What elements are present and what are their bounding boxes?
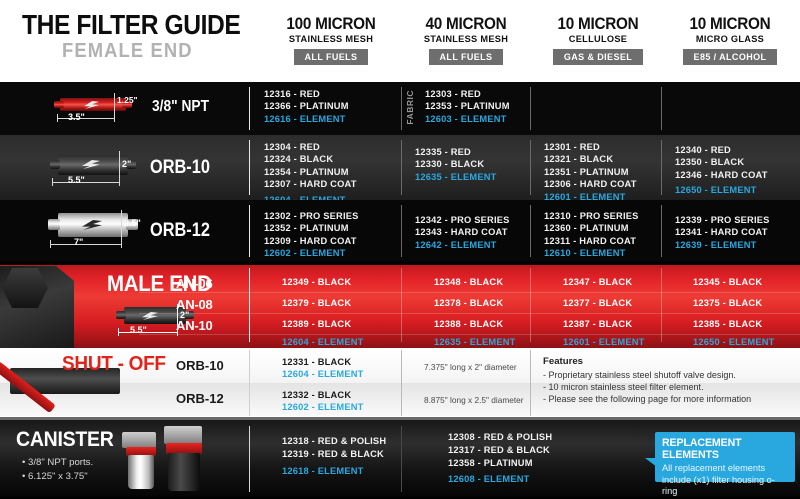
column-divider [530,268,531,342]
part-number: 12309 - HARD COAT [264,235,401,247]
dimension-line [119,151,120,181]
column-fuel-badge: GAS & DIESEL [553,49,643,65]
column-fuel-badge: ALL FUELS [429,49,504,65]
dimension-tick [118,328,119,336]
female-end-table: 3.5" 1.25" 3/8" NPT 12316 - RED 12366 - … [0,82,800,497]
part-number: 12348 - BLACK [434,277,503,287]
replacement-elements-callout: REPLACEMENT ELEMENTS All replacement ele… [655,432,795,482]
data-cell-40-micron: FABRIC 12303 - RED 12353 - PLATINUM 1260… [401,82,530,135]
shutoff-size-label: ORB-10 [176,358,224,373]
column-divider [401,87,402,130]
column-divider [661,140,662,195]
part-number: 12387 - BLACK [563,319,632,329]
callout-line-2: include (x1) filter housing o-ring [662,475,788,498]
part-number-element: 12602 - ELEMENT [282,401,364,413]
part-number-element: 12603 - ELEMENT [425,113,530,125]
shutoff-size-label: ORB-12 [176,391,224,406]
part-number: 12377 - BLACK [563,298,632,308]
callout-line-1: All replacement elements [662,463,788,475]
filter-end-graphic [54,101,64,108]
part-number: 12385 - BLACK [693,319,762,329]
data-cell-100-micron: 12304 - RED 12324 - BLACK 12354 - PLATIN… [250,135,401,200]
dimension-length-label: 5.5" [68,175,85,185]
column-divider [661,205,662,257]
dimension-line [52,182,120,183]
page-header: THE FILTER GUIDE FEMALE END 100 MICRON S… [0,0,800,82]
part-number: 12308 - RED & POLISH [448,432,552,442]
feature-item: - Proprietary stainless steel shutoff va… [543,370,736,380]
dimension-line [50,244,122,245]
data-cell-10-micron-cellulose [530,82,661,135]
part-number: 12389 - BLACK [282,319,351,329]
part-number: 12307 - HARD COAT [264,178,401,190]
part-number: 12321 - BLACK [544,153,661,165]
part-number-element: 12610 - ELEMENT [544,247,661,259]
part-number: 12346 - HARD COAT [675,169,800,181]
row-divider [139,313,800,314]
dimension-line [57,118,115,119]
an-size-label: AN-10 [176,318,213,333]
an-size-label: AN-06 [176,276,213,291]
column-micron: 100 MICRON [265,14,396,33]
part-number: 12352 - PLATINUM [264,222,401,234]
part-number: 12341 - HARD COAT [675,226,800,238]
part-number: 12358 - PLATINUM [448,458,533,468]
column-micron: 10 MICRON [535,14,661,33]
column-divider [249,426,250,492]
part-number: 12375 - BLACK [693,298,762,308]
column-divider [401,426,402,492]
canister-section: CANISTER • 3/8" NPT ports. • 6.125" x 3.… [0,420,800,497]
column-fuel-badge: E85 / ALCOHOL [683,49,778,65]
data-cell-10-micron-microglass: 12340 - RED 12350 - BLACK 12346 - HARD C… [661,135,800,200]
product-name: 3/8" NPT [152,98,209,116]
column-divider [661,268,662,342]
product-name: ORB-12 [150,220,210,242]
part-number: 12379 - BLACK [282,298,351,308]
column-header-4: 10 MICRON MICRO GLASS E85 / ALCOHOL [660,14,800,65]
part-number: 12301 - RED [544,141,661,153]
part-number-element: 12650 - ELEMENT [693,337,775,347]
part-number: 12331 - BLACK [282,356,351,368]
section-title: SHUT - OFF [62,353,166,376]
column-header-3: 10 MICRON CELLULOSE GAS & DIESEL [528,14,668,65]
part-number-element: 12601 - ELEMENT [563,337,645,347]
features-title: Features [543,356,583,367]
part-number: 12311 - HARD COAT [544,235,661,247]
page-subtitle: FEMALE END [62,40,193,63]
part-number: 12330 - BLACK [415,158,530,170]
part-number: 12319 - RED & BLACK [282,449,384,459]
table-row-orb12: 7" 2.5" ORB-12 12302 - PRO SERIES 12352 … [0,200,800,262]
canister-jar-graphic [128,455,154,489]
column-micron: 10 MICRON [667,14,793,33]
data-cell-100-micron: 12316 - RED 12366 - PLATINUM 12616 - ELE… [250,82,401,135]
column-divider [401,205,402,257]
column-divider [530,205,531,257]
column-divider [401,268,402,342]
canister-head-graphic [122,432,156,448]
part-number-element: 12635 - ELEMENT [415,171,530,183]
dimension-diameter-label: 1.25" [117,95,138,105]
column-divider [530,350,531,416]
part-number: 12339 - PRO SERIES [675,214,800,226]
dimension-line [118,332,178,333]
dimension-tick [50,240,51,248]
part-number: 12332 - BLACK [282,389,351,401]
part-number: 12353 - PLATINUM [425,100,530,112]
dimension-line [114,93,115,117]
shutoff-section: SHUT - OFF ORB-10 ORB-12 12331 - BLACK 1… [0,348,800,420]
canister-spec: • 6.125" x 3.75" [22,471,88,482]
part-number: 12324 - BLACK [264,153,401,165]
part-number: 12354 - PLATINUM [264,166,401,178]
column-divider [530,87,531,130]
part-number-element: 12642 - ELEMENT [415,239,530,251]
dimension-line [121,210,122,243]
part-number-element: 12635 - ELEMENT [434,337,516,347]
part-number-element: 12618 - ELEMENT [282,466,364,476]
part-number: 12388 - BLACK [434,319,503,329]
part-number: 12304 - RED [264,141,401,153]
dimension-diameter-label: 2.5" [124,218,141,228]
part-number: 12303 - RED [425,88,530,100]
table-row-orb10: 5.5" 2" ORB-10 12304 - RED 12324 - BLACK… [0,135,800,200]
column-divider [401,140,402,195]
feature-item: - Please see the following page for more… [543,394,751,404]
data-cell-40-micron: 12335 - RED 12330 - BLACK 12635 - ELEMEN… [401,135,530,200]
column-material: STAINLESS MESH [260,34,402,45]
row-label-cell: 3.5" 1.25" 3/8" NPT [0,82,250,135]
column-header-1: 100 MICRON STAINLESS MESH ALL FUELS [258,14,404,65]
column-divider [249,350,250,416]
part-number-element: 12602 - ELEMENT [264,247,401,259]
part-number: 12349 - BLACK [282,277,351,287]
part-number: 12302 - PRO SERIES [264,210,401,222]
row-divider [139,292,800,293]
section-divider [0,262,800,265]
part-number: 12335 - RED [415,146,530,158]
canister-jar-graphic [168,453,200,491]
column-material: STAINLESS MESH [398,34,534,45]
table-row-npt: 3.5" 1.25" 3/8" NPT 12316 - RED 12366 - … [0,82,800,135]
an-size-label: AN-08 [176,297,213,312]
part-number-element: 12604 - ELEMENT [282,337,364,347]
canister-spec: • 3/8" NPT ports. [22,457,93,468]
part-number-element: 12616 - ELEMENT [264,113,401,125]
part-number: 12343 - HARD COAT [415,226,530,238]
page-title: THE FILTER GUIDE [22,9,240,41]
part-number: 12342 - PRO SERIES [415,214,530,226]
dimension-tick [57,114,58,122]
part-number: 12366 - PLATINUM [264,100,401,112]
column-fuel-badge: ALL FUELS [294,49,369,65]
filter-guide-page: THE FILTER GUIDE FEMALE END 100 MICRON S… [0,0,800,499]
row-label-cell: 7" 2.5" ORB-12 [0,200,250,262]
shutoff-dimension: 7.375" long x 2" diameter [424,362,517,372]
part-number: 12350 - BLACK [675,156,800,168]
data-cell-10-micron-cellulose: 12310 - PRO SERIES 12360 - PLATINUM 1231… [530,200,661,262]
part-number: 12340 - RED [675,144,800,156]
column-divider [530,140,531,195]
fabric-label: FABRIC [405,90,415,125]
filter-end-graphic [116,311,126,319]
data-cell-10-micron-microglass: 12339 - PRO SERIES 12341 - HARD COAT 126… [661,200,800,262]
column-divider [249,268,250,342]
part-number: 12306 - HARD COAT [544,178,661,190]
column-header-2: 40 MICRON STAINLESS MESH ALL FUELS [396,14,536,65]
row-divider [139,334,800,335]
part-number: 12345 - BLACK [693,277,762,287]
column-micron: 40 MICRON [403,14,529,33]
column-material: CELLULOSE [530,34,666,45]
part-number: 12316 - RED [264,88,401,100]
part-number: 12317 - RED & BLACK [448,445,550,455]
data-cell-100-micron: 12302 - PRO SERIES 12352 - PLATINUM 1230… [250,200,401,262]
part-number: 12318 - RED & POLISH [282,436,386,446]
part-number-element: 12639 - ELEMENT [675,239,800,251]
section-title: CANISTER [16,428,114,452]
column-divider [401,350,402,416]
part-number: 12347 - BLACK [563,277,632,287]
data-cell-10-micron-cellulose: 12301 - RED 12321 - BLACK 12351 - PLATIN… [530,135,661,200]
part-number: 12378 - BLACK [434,298,503,308]
dimension-length-label: 7" [74,237,83,247]
part-number: 12310 - PRO SERIES [544,210,661,222]
filter-end-graphic [48,219,60,230]
callout-title: REPLACEMENT ELEMENTS [662,437,788,461]
product-name: ORB-10 [150,157,210,179]
data-cell-40-micron: 12342 - PRO SERIES 12343 - HARD COAT 126… [401,200,530,262]
shutoff-dimension: 8.875" long x 2.5" diameter [424,395,524,405]
column-divider [661,87,662,130]
canister-head-graphic [164,426,202,444]
male-end-section: MALE END 5.5" 2" AN-06 AN-08 AN-10 12349… [0,262,800,348]
column-material: MICRO GLASS [662,34,798,45]
part-number-element: 12650 - ELEMENT [675,184,800,196]
data-cell-10-micron-microglass [661,82,800,135]
part-number-element: 12608 - ELEMENT [448,474,530,484]
filter-end-graphic [50,160,60,169]
part-number-element: 12604 - ELEMENT [282,368,364,380]
feature-item: - 10 micron stainless steel filter eleme… [543,382,704,392]
dimension-tick [52,178,53,186]
row-label-cell: 5.5" 2" ORB-10 [0,135,250,200]
dimension-diameter-label: 2" [122,159,131,169]
dimension-length-label: 3.5" [68,112,85,122]
part-number: 12351 - PLATINUM [544,166,661,178]
part-number: 12360 - PLATINUM [544,222,661,234]
